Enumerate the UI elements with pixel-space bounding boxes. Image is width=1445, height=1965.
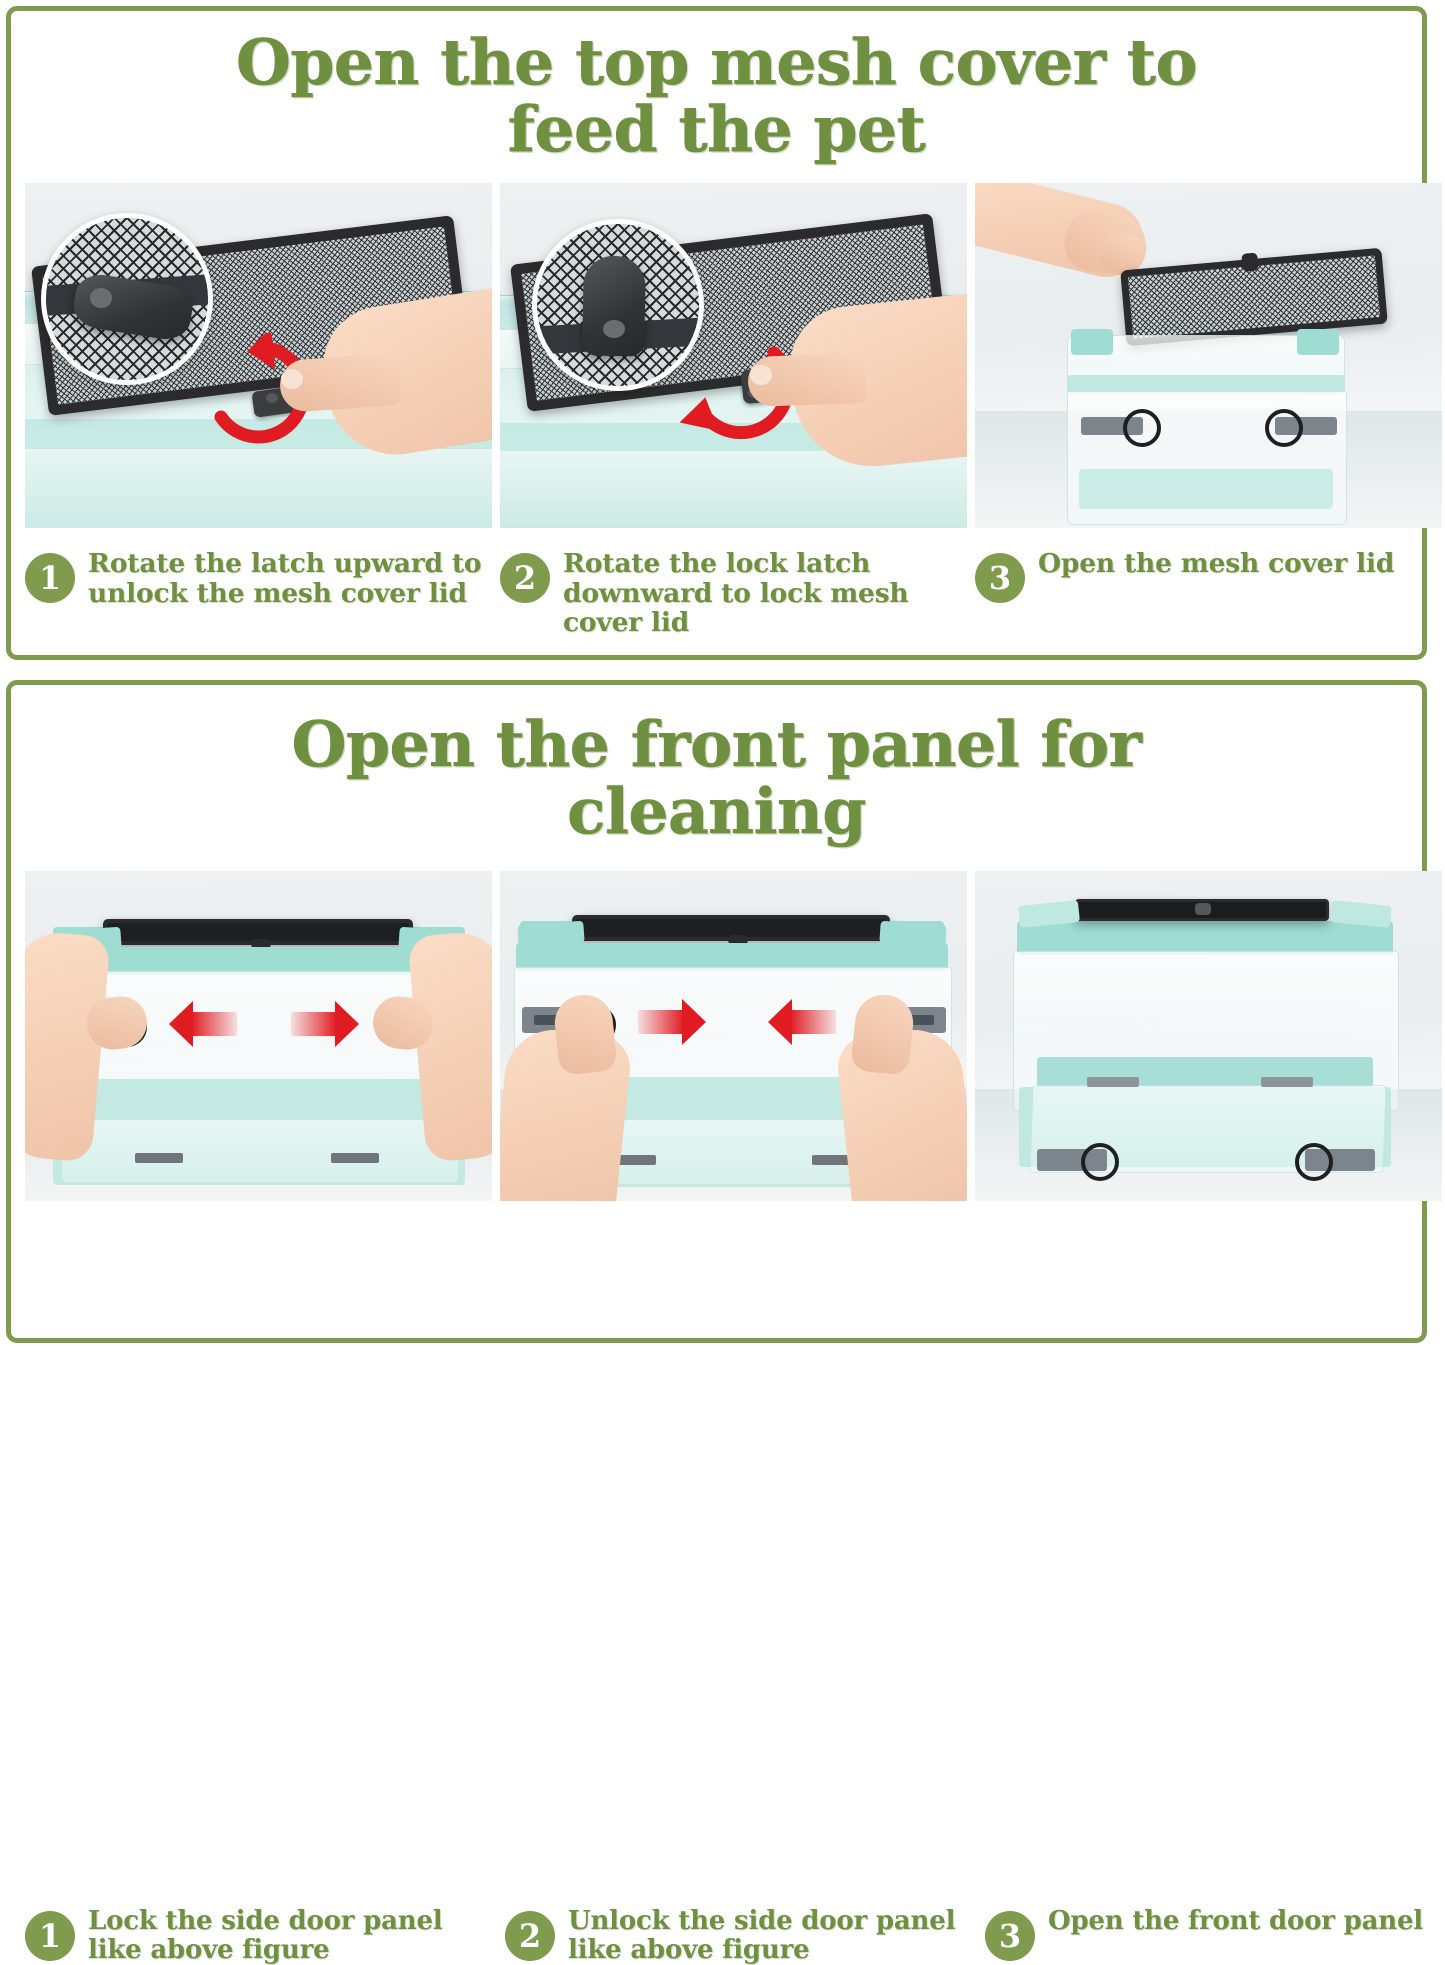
hinge-left xyxy=(1087,1077,1139,1087)
ring-latch-right xyxy=(1295,1143,1333,1181)
lid-latch xyxy=(1241,253,1259,272)
step-caption-5: 2 Unlock the side door panel like above … xyxy=(505,1907,985,1965)
step-badge-5: 2 xyxy=(505,1911,555,1961)
terrarium-base-tray xyxy=(1079,469,1333,509)
page-title-bottom: Open the front panel for cleaning xyxy=(227,685,1207,845)
corner-clip-left xyxy=(1071,329,1113,355)
hinge-right xyxy=(1261,1077,1313,1087)
fingernail xyxy=(281,369,303,389)
step-badge-2: 2 xyxy=(500,553,550,603)
infographic-page: Open the top mesh cover to feed the pet xyxy=(0,0,1445,1349)
step-caption-4: 1 Lock the side door panel like above fi… xyxy=(25,1907,505,1965)
caption-row-bottom: 1 Lock the side door panel like above fi… xyxy=(25,1907,1445,1965)
photo-lock-side-door xyxy=(25,871,492,1201)
photo-rotate-latch-down xyxy=(500,183,967,528)
magnifier-inset-unlocked-latch xyxy=(41,213,213,385)
photo-lift-mesh-lid xyxy=(975,183,1442,528)
photo-row-bottom xyxy=(25,871,1442,1201)
corner-clip-right xyxy=(1297,329,1339,355)
photo-rotate-latch-up xyxy=(25,183,492,528)
step-badge-4: 1 xyxy=(25,1911,75,1961)
lid-latch xyxy=(1195,903,1211,915)
step-text-6: Open the front door panel xyxy=(1048,1907,1423,1936)
step-text-3: Open the mesh cover lid xyxy=(1038,549,1394,579)
step-badge-6: 3 xyxy=(985,1911,1035,1961)
magnifier-latch-lever xyxy=(582,255,646,356)
hinge-right xyxy=(331,1153,379,1163)
photo-front-door-open xyxy=(975,871,1442,1201)
ring-latch-left xyxy=(1123,409,1161,447)
page-title-top: Open the top mesh cover to feed the pet xyxy=(227,11,1207,163)
step-caption-6: 3 Open the front door panel xyxy=(985,1907,1445,1965)
step-text-5: Unlock the side door panel like above fi… xyxy=(568,1907,968,1965)
photo-row-top xyxy=(25,183,1442,528)
fingernail xyxy=(750,365,772,385)
step-text-1: Rotate the latch upward to unlock the me… xyxy=(88,549,488,608)
magnifier-latch-pivot xyxy=(90,288,112,308)
section-top-mesh-cover: Open the top mesh cover to feed the pet xyxy=(6,6,1427,660)
ring-latch-left xyxy=(1081,1143,1119,1181)
section-bottom-front-panel: Open the front panel for cleaning xyxy=(6,680,1427,1343)
step-caption-1: 1 Rotate the latch upward to unlock the … xyxy=(25,549,500,638)
step-badge-1: 1 xyxy=(25,553,75,603)
hinge-left xyxy=(135,1153,183,1163)
front-door-panel xyxy=(61,1119,459,1183)
arrow-right-outward-icon xyxy=(291,1001,359,1047)
arrow-left-inward-icon xyxy=(768,999,836,1045)
step-text-4: Lock the side door panel like above figu… xyxy=(88,1907,488,1965)
step-badge-3: 3 xyxy=(975,553,1025,603)
magnifier-latch-pivot xyxy=(603,320,625,338)
step-caption-3: 3 Open the mesh cover lid xyxy=(975,549,1445,638)
step-caption-2: 2 Rotate the lock latch downward to lock… xyxy=(500,549,975,638)
arrow-right-inward-icon xyxy=(638,999,706,1045)
terrarium-top-rail xyxy=(1017,921,1393,955)
step-text-2: Rotate the lock latch downward to lock m… xyxy=(563,549,963,638)
arrow-left-outward-icon xyxy=(169,1001,237,1047)
photo-unlock-side-door xyxy=(500,871,967,1201)
ring-latch-right xyxy=(1265,409,1303,447)
caption-row-top: 1 Rotate the latch upward to unlock the … xyxy=(25,549,1445,638)
